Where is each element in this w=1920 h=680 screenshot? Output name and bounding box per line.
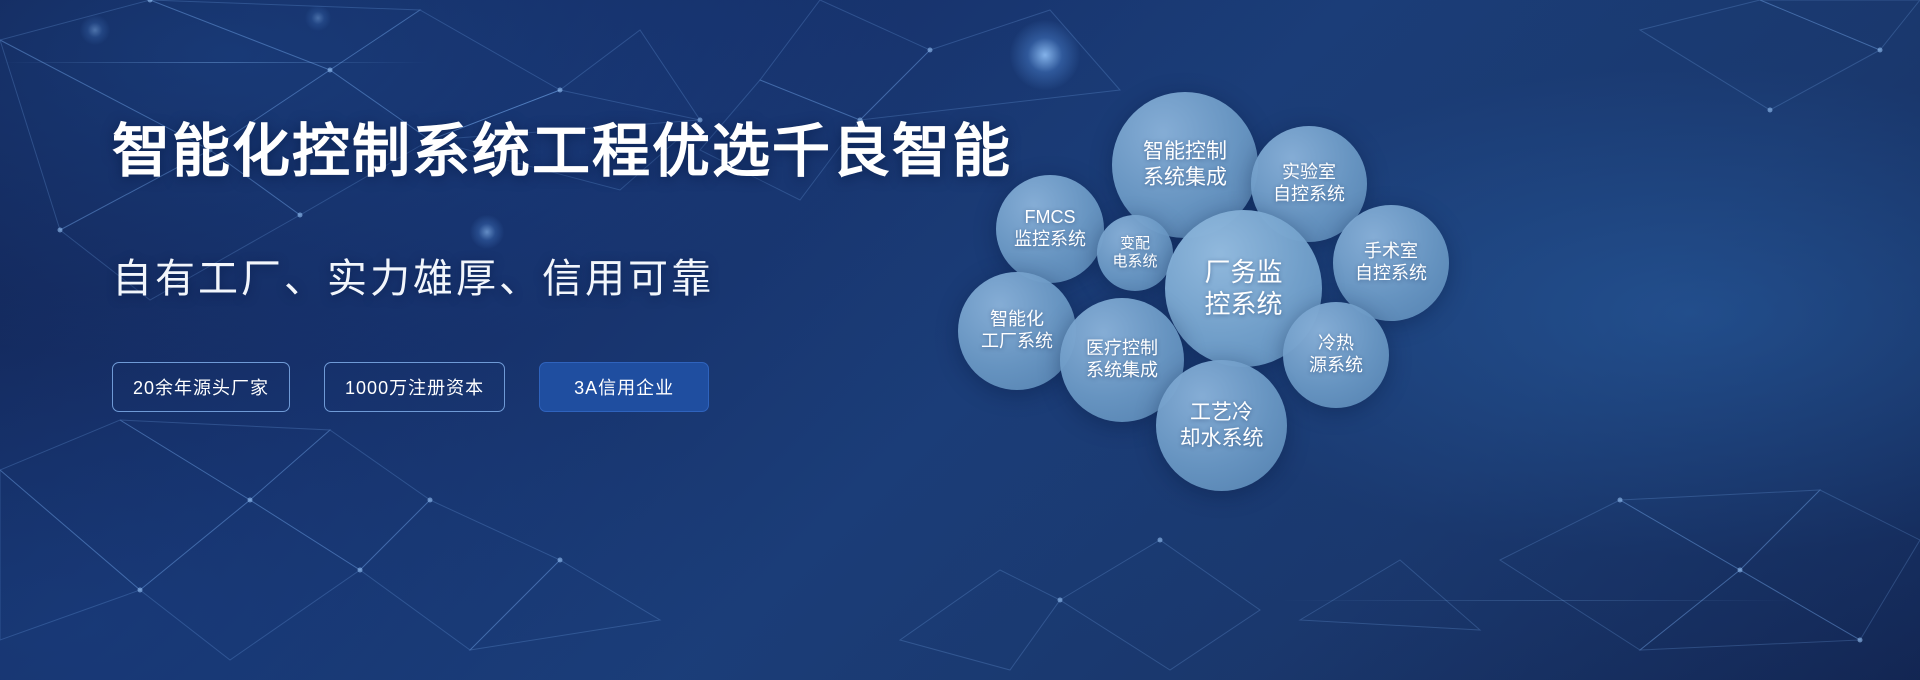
service-bubble-line: 监控系统	[1014, 229, 1086, 251]
service-bubble-label: 智能控制系统集成	[1143, 139, 1227, 190]
service-bubble-line: 智能化	[981, 309, 1053, 331]
service-bubble-label: 变配电系统	[1112, 235, 1157, 272]
service-bubble-line: 变配	[1112, 235, 1157, 253]
light-streak-2	[1280, 600, 1800, 601]
service-bubble-line: 工艺冷	[1180, 400, 1264, 426]
service-bubble-line: 系统集成	[1086, 360, 1158, 382]
light-glow-4	[305, 5, 331, 31]
service-bubble-cluster: 智能控制系统集成实验室自控系统FMCS监控系统变配电系统手术室自控系统厂务监控系…	[950, 40, 1570, 560]
light-glow-3	[80, 15, 110, 45]
service-bubble-label: 工艺冷却水系统	[1180, 400, 1264, 451]
service-bubble[interactable]: 冷热源系统	[1283, 302, 1389, 408]
service-bubble[interactable]: FMCS监控系统	[996, 175, 1104, 283]
service-bubble-line: 智能控制	[1143, 139, 1227, 165]
service-bubble-line: 源系统	[1309, 355, 1363, 377]
badge-2[interactable]: 3A信用企业	[539, 362, 709, 412]
service-bubble[interactable]: 智能化工厂系统	[958, 272, 1076, 390]
service-bubble-line: 冷热	[1309, 333, 1363, 355]
service-bubble-line: 医疗控制	[1086, 338, 1158, 360]
light-streak-1	[0, 62, 430, 63]
service-bubble-label: FMCS监控系统	[1014, 207, 1086, 251]
service-bubble[interactable]: 变配电系统	[1097, 215, 1173, 291]
badge-list: 20余年源头厂家1000万注册资本3A信用企业	[112, 362, 952, 412]
service-bubble-line: 工厂系统	[981, 331, 1053, 353]
service-bubble-label: 冷热源系统	[1309, 333, 1363, 377]
hero-banner: 智能化控制系统工程优选千良智能 自有工厂、实力雄厚、信用可靠 20余年源头厂家1…	[0, 0, 1920, 680]
service-bubble-label: 厂务监控系统	[1204, 257, 1282, 320]
service-bubble-line: 却水系统	[1180, 426, 1264, 452]
service-bubble-line: 手术室	[1355, 241, 1427, 263]
service-bubble-label: 实验室自控系统	[1273, 162, 1345, 206]
subtitle: 自有工厂、实力雄厚、信用可靠	[112, 246, 952, 304]
badge-0[interactable]: 20余年源头厂家	[112, 362, 290, 412]
page-title: 智能化控制系统工程优选千良智能	[112, 120, 952, 184]
service-bubble-line: 实验室	[1273, 162, 1345, 184]
service-bubble-line: 控系统	[1204, 289, 1282, 321]
service-bubble-label: 手术室自控系统	[1355, 241, 1427, 285]
service-bubble-label: 智能化工厂系统	[981, 309, 1053, 353]
service-bubble-label: 医疗控制系统集成	[1086, 338, 1158, 382]
service-bubble-line: 系统集成	[1143, 165, 1227, 191]
service-bubble-line: FMCS	[1014, 207, 1086, 229]
service-bubble[interactable]: 工艺冷却水系统	[1156, 360, 1287, 491]
service-bubble-line: 自控系统	[1355, 263, 1427, 285]
badge-1[interactable]: 1000万注册资本	[324, 362, 505, 412]
service-bubble-line: 厂务监	[1204, 257, 1282, 289]
service-bubble-line: 电系统	[1112, 253, 1157, 271]
banner-text-column: 智能化控制系统工程优选千良智能 自有工厂、实力雄厚、信用可靠 20余年源头厂家1…	[112, 120, 952, 412]
service-bubble-line: 自控系统	[1273, 184, 1345, 206]
